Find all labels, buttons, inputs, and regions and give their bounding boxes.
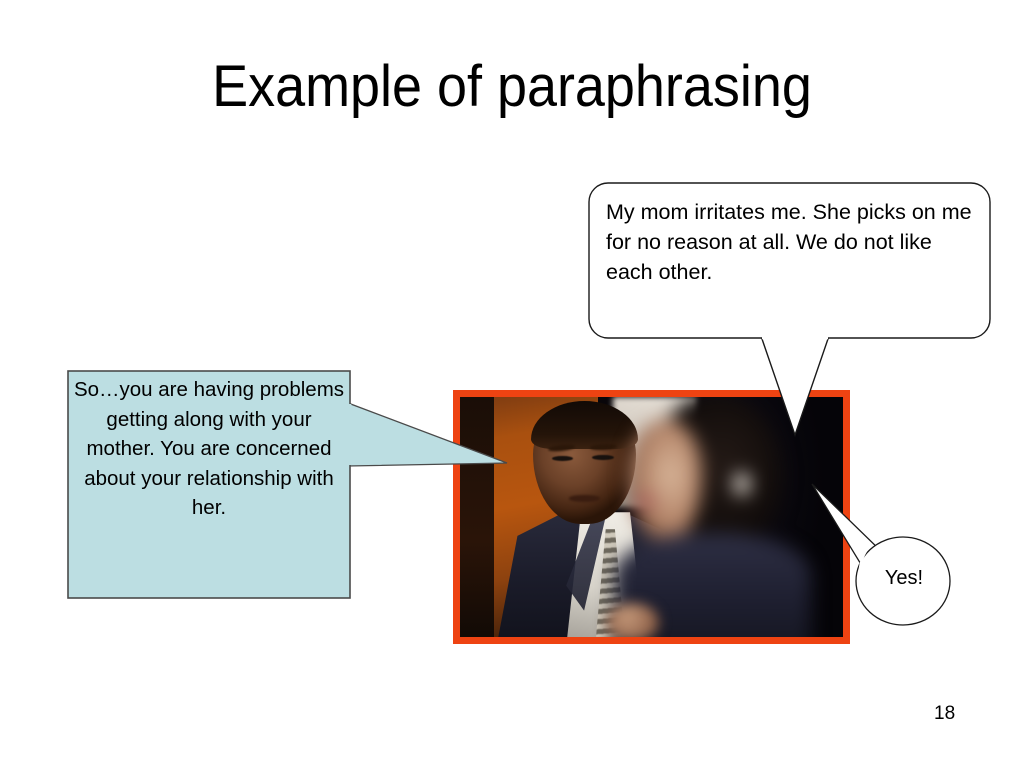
photo-man-mouth (569, 495, 600, 501)
client-confirmation-text: Yes! (857, 566, 951, 590)
photo-background-edge (460, 397, 494, 637)
counselor-paraphrase-text: So…you are having problems getting along… (72, 375, 346, 523)
photo-woman-hand (606, 603, 660, 637)
page-title: Example of paraphrasing (36, 54, 988, 120)
client-statement-text: My mom irritates me. She picks on me for… (606, 197, 978, 287)
page-number: 18 (934, 703, 955, 725)
photo-woman-earring (734, 473, 750, 496)
counseling-photo (453, 390, 850, 644)
photo-man-eye-right (592, 455, 613, 460)
photo-woman (625, 397, 801, 637)
photo-woman-face (628, 419, 702, 543)
photo-image (460, 397, 843, 637)
